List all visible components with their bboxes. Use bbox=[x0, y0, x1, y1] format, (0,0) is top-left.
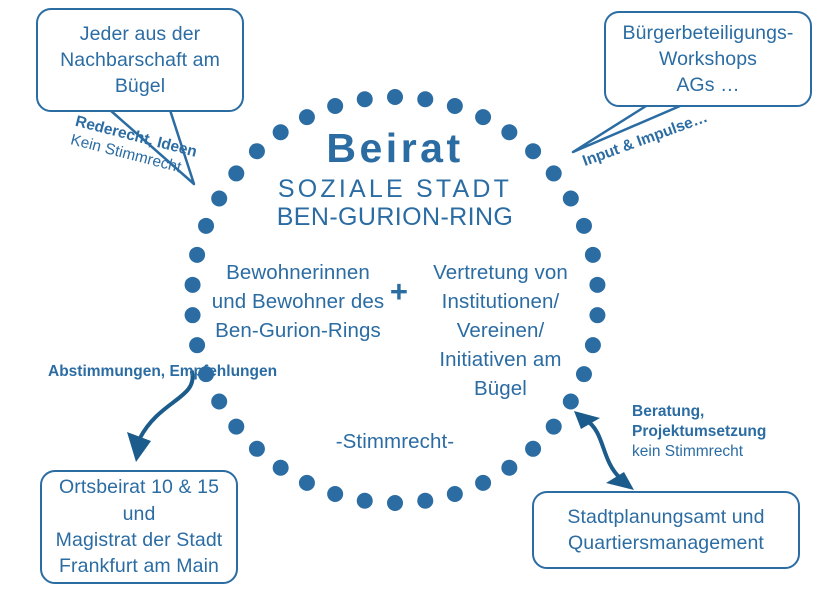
institutions-line-2: von bbox=[535, 261, 568, 284]
node-workshops-line-1: Bürgerbeteiligungs- bbox=[622, 20, 793, 46]
ring-dot bbox=[501, 460, 517, 476]
node-neighborhood-line-3: Bügel bbox=[115, 73, 165, 99]
ring-dot bbox=[447, 486, 463, 502]
ring-dot bbox=[475, 475, 491, 491]
node-neighborhood[interactable]: Jeder aus der Nachbarschaft am Bügel bbox=[36, 8, 244, 112]
ring-dot bbox=[387, 495, 403, 511]
node-workshops-line-3: AGs … bbox=[676, 72, 739, 98]
center-subtitle-program: SOZIALE STADT bbox=[245, 175, 545, 204]
ring-dot bbox=[589, 277, 605, 293]
arrowhead-abstimmungen bbox=[127, 432, 151, 462]
connector-label-beratung-line-1: Beratung, bbox=[632, 402, 766, 422]
ring-dot bbox=[249, 441, 265, 457]
arrow-beratung bbox=[586, 420, 620, 478]
center-voting-right-note: -Stimmrecht- bbox=[300, 430, 490, 454]
ring-dot bbox=[546, 165, 562, 181]
connector-label-beratung-line-3: kein Stimmrecht bbox=[632, 442, 766, 462]
plus-icon: + bbox=[382, 276, 416, 307]
residents-line-1: Bewohnerinnen bbox=[226, 261, 370, 284]
ring-dot bbox=[525, 441, 541, 457]
ring-dot bbox=[189, 247, 205, 263]
ring-dot bbox=[228, 419, 244, 435]
residents-line-2: und Bewohner bbox=[212, 290, 345, 313]
ring-dot bbox=[417, 91, 433, 107]
arrowhead-beratung-up bbox=[574, 411, 600, 429]
ring-dot bbox=[189, 337, 205, 353]
institutions-line-3: Institutionen/ bbox=[442, 290, 560, 313]
connector-label-beratung-line-2: Projektumsetzung bbox=[632, 422, 766, 442]
ring-dot bbox=[228, 165, 244, 181]
connector-label-abstimmungen-line-1: Abstimmungen, bbox=[48, 363, 165, 380]
ring-dot bbox=[327, 98, 343, 114]
node-neighborhood-line-1: Jeder aus der bbox=[80, 21, 201, 47]
institutions-line-4: Vereinen/ bbox=[457, 319, 545, 342]
node-neighborhood-line-2: Nachbarschaft am bbox=[60, 47, 220, 73]
arrowhead-beratung-down bbox=[606, 472, 634, 490]
node-workshops[interactable]: Bürgerbeteiligungs- Workshops AGs … bbox=[604, 11, 812, 107]
institutions-line-5: Initiativen bbox=[439, 348, 527, 371]
node-ortsbeirat-line-4: Frankfurt am Main bbox=[59, 553, 219, 579]
node-workshops-line-2: Workshops bbox=[659, 46, 757, 72]
ring-dot bbox=[387, 89, 403, 105]
connector-label-abstimmungen: Abstimmungen, Empfehlungen bbox=[48, 362, 277, 382]
ring-dot bbox=[357, 91, 373, 107]
ring-dot bbox=[417, 493, 433, 509]
ring-dot bbox=[546, 419, 562, 435]
center-members-institutions: Vertretung von Institutionen/ Vereinen/ … bbox=[418, 258, 583, 404]
ring-dot bbox=[185, 307, 201, 323]
connector-label-abstimmungen-line-2: Empfehlungen bbox=[169, 363, 277, 380]
center-subtitle-location: BEN-GURION-RING bbox=[245, 203, 545, 232]
residents-line-4: Ben-Gurion-Rings bbox=[215, 319, 381, 342]
center-title: Beirat bbox=[245, 125, 545, 172]
center-members-residents: Bewohnerinnen und Bewohner des Ben-Gurio… bbox=[208, 258, 388, 345]
ring-dot bbox=[475, 109, 491, 125]
ring-dot bbox=[563, 191, 579, 207]
institutions-line-1: Vertretung bbox=[433, 261, 529, 284]
node-stadtplanungsamt-line-2: Quartiersmanagement bbox=[568, 530, 764, 556]
node-ortsbeirat-line-1: Ortsbeirat 10 & 15 bbox=[59, 474, 219, 500]
connector-label-beratung: Beratung, Projektumsetzung kein Stimmrec… bbox=[632, 402, 766, 462]
ring-dot bbox=[185, 277, 201, 293]
node-stadtplanungsamt[interactable]: Stadtplanungsamt und Quartiersmanagement bbox=[532, 491, 800, 569]
ring-dot bbox=[576, 218, 592, 234]
residents-line-3: des bbox=[351, 290, 384, 313]
ring-dot bbox=[211, 394, 227, 410]
node-ortsbeirat-line-2: und bbox=[123, 501, 156, 527]
ring-dot bbox=[299, 109, 315, 125]
ring-dot bbox=[585, 337, 601, 353]
ring-dot bbox=[357, 493, 373, 509]
ring-dot bbox=[327, 486, 343, 502]
ring-dot bbox=[585, 247, 601, 263]
ring-dot bbox=[447, 98, 463, 114]
ring-dot bbox=[273, 460, 289, 476]
diagram-canvas: Jeder aus der Nachbarschaft am Bügel Bür… bbox=[0, 0, 820, 600]
connector-label-rederecht: Rederecht, Ideen Kein Stimmrecht bbox=[68, 112, 199, 181]
ring-dot bbox=[589, 307, 605, 323]
ring-dot bbox=[299, 475, 315, 491]
connector-label-input: Input & Impulse… bbox=[580, 108, 710, 171]
ring-dot bbox=[198, 218, 214, 234]
node-ortsbeirat[interactable]: Ortsbeirat 10 & 15 und Magistrat der Sta… bbox=[40, 470, 238, 584]
ring-dot bbox=[211, 191, 227, 207]
node-stadtplanungsamt-line-1: Stadtplanungsamt und bbox=[567, 504, 764, 530]
node-ortsbeirat-line-3: Magistrat der Stadt bbox=[56, 527, 223, 553]
